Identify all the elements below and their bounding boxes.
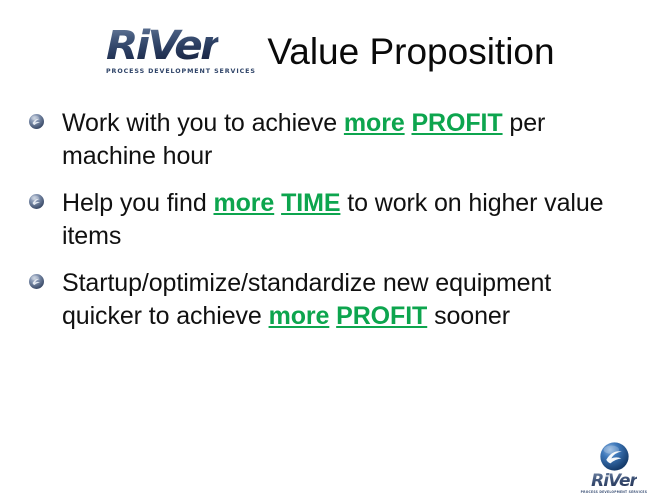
bullet-highlight: PROFIT — [411, 109, 502, 137]
list-item: Startup/optimize/standardize new equipme… — [28, 267, 628, 333]
footer-logo-tagline: PROCESS DEVELOPMENT SERVICES — [581, 490, 648, 494]
bullet-segment: sooner — [427, 302, 510, 330]
river-swirl-sphere-icon — [599, 441, 630, 472]
bullet-text: Work with you to achieve more PROFIT per… — [62, 107, 628, 173]
river-logo-wordmark: RiVer — [106, 26, 218, 66]
footer-river-logo: RiVer PROCESS DEVELOPMENT SERVICES — [583, 441, 645, 494]
river-sphere-bullet-icon — [28, 273, 45, 290]
bullet-highlight: PROFIT — [336, 302, 427, 330]
list-item: Help you find more TIME to work on highe… — [28, 187, 628, 253]
bullet-list: Work with you to achieve more PROFIT per… — [28, 107, 628, 347]
bullet-highlight: more — [213, 189, 274, 217]
bullet-text: Startup/optimize/standardize new equipme… — [62, 267, 628, 333]
slide-header: RiVer PROCESS DEVELOPMENT SERVICES Value… — [0, 24, 661, 73]
river-sphere-bullet-icon — [28, 113, 45, 130]
bullet-highlight: more — [269, 302, 330, 330]
slide: RiVer PROCESS DEVELOPMENT SERVICES Value… — [0, 0, 661, 500]
bullet-highlight: more — [344, 109, 405, 137]
footer-logo-wordmark: RiVer — [591, 473, 637, 490]
bullet-highlight: TIME — [281, 189, 340, 217]
river-logo: RiVer PROCESS DEVELOPMENT SERVICES — [106, 26, 253, 75]
river-logo-tagline: PROCESS DEVELOPMENT SERVICES — [106, 68, 256, 75]
river-sphere-bullet-icon — [28, 193, 45, 210]
bullet-segment: Work with you to achieve — [62, 109, 344, 137]
page-title: Value Proposition — [267, 32, 554, 72]
bullet-text: Help you find more TIME to work on highe… — [62, 187, 628, 253]
bullet-segment: Help you find — [62, 189, 213, 217]
list-item: Work with you to achieve more PROFIT per… — [28, 107, 628, 173]
